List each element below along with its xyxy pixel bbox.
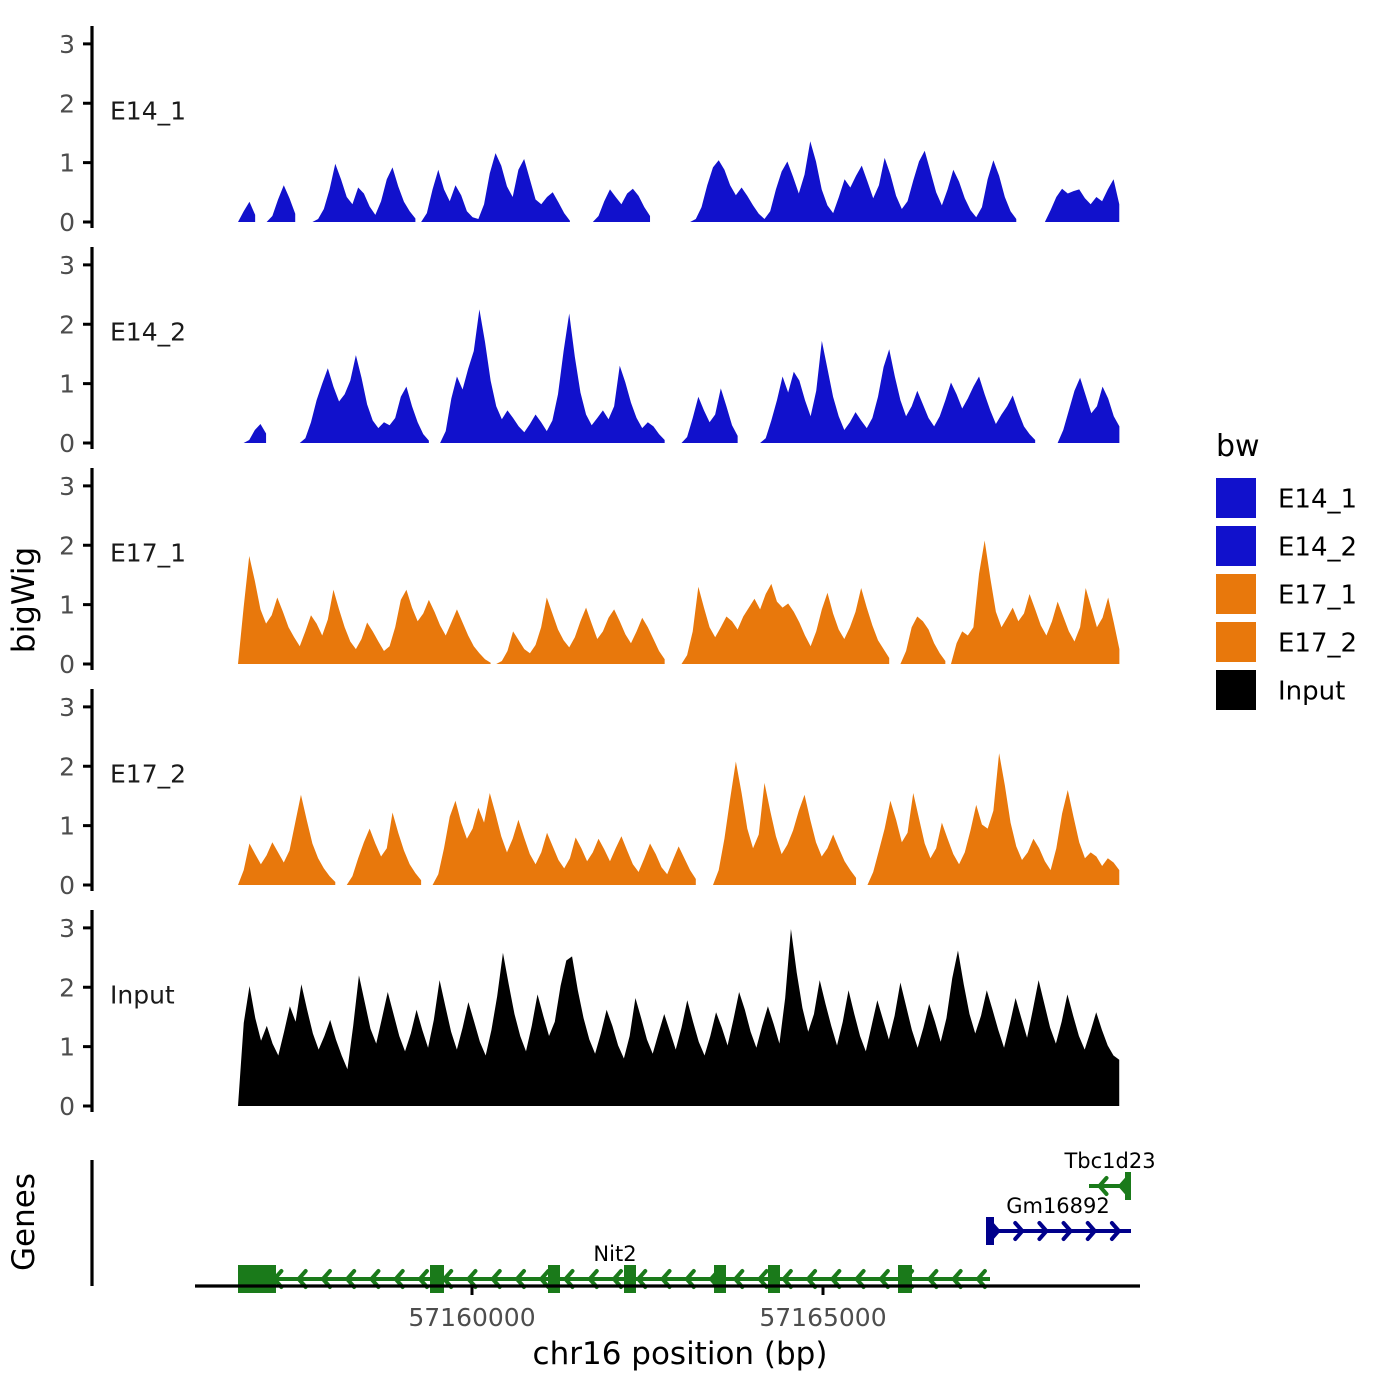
y-tick-label: 1 — [59, 812, 75, 841]
y-tick-label: 3 — [59, 914, 75, 943]
y-tick-label: 2 — [59, 531, 75, 560]
y-tick-label: 2 — [59, 89, 75, 118]
legend-swatch — [1216, 526, 1256, 566]
track-area-e17_1 — [951, 541, 1119, 665]
legend-item-e14_2[interactable]: E14_2 — [1216, 526, 1357, 566]
track-area-e17_2 — [347, 813, 421, 885]
track-panel-e14_1: 0123E14_1 — [59, 26, 1119, 237]
track-area-e17_2 — [238, 795, 335, 885]
track-area-e17_2 — [867, 753, 1119, 885]
legend-item-e17_2[interactable]: E17_2 — [1216, 622, 1357, 662]
track-area-e14_1 — [267, 185, 296, 222]
track-area-e14_2 — [440, 309, 665, 443]
gene-exon-block — [714, 1265, 726, 1293]
legend-label: E17_1 — [1278, 581, 1357, 611]
genome-browser-figure: 0123E14_10123E14_20123E17_10123E17_20123… — [0, 0, 1400, 1400]
y-tick-label: 1 — [59, 591, 75, 620]
track-panel-e17_2: 0123E17_2 — [59, 689, 1119, 900]
track-strip-label: E17_2 — [110, 759, 186, 788]
gene-exon-block — [1125, 1172, 1131, 1200]
track-strip-label: E17_1 — [110, 538, 186, 567]
bigwig-track-figure: 0123E14_10123E14_20123E17_10123E17_20123… — [0, 0, 1400, 1400]
track-area-e17_2 — [713, 762, 856, 886]
legend-label: E14_1 — [1278, 485, 1357, 515]
y-tick-label: 0 — [59, 208, 75, 237]
gene-exon-block — [898, 1265, 912, 1293]
genes-axis-title: Genes — [6, 1173, 42, 1271]
y-tick-label: 2 — [59, 973, 75, 1002]
track-area-e17_1 — [238, 556, 491, 664]
track-area-e14_2 — [760, 341, 1035, 443]
gene-feature-tbc1d23[interactable]: Tbc1d23 — [1063, 1149, 1155, 1200]
gene-label-nit2: Nit2 — [593, 1242, 636, 1266]
gene-exon-block — [986, 1217, 994, 1245]
legend-item-e14_1[interactable]: E14_1 — [1216, 478, 1357, 518]
y-tick-label: 0 — [59, 650, 75, 679]
track-panel-input: 0123Input — [59, 910, 1119, 1121]
x-tick-label: 57165000 — [759, 1303, 886, 1332]
x-tick-label: 57160000 — [408, 1303, 535, 1332]
track-strip-label: Input — [110, 980, 175, 1009]
track-area-e14_2 — [682, 388, 738, 443]
track-area-e14_1 — [312, 164, 415, 222]
y-tick-label: 2 — [59, 752, 75, 781]
track-area-e14_1 — [238, 202, 255, 222]
legend-swatch — [1216, 478, 1256, 518]
y-tick-label: 0 — [59, 1092, 75, 1121]
gene-exon-block — [238, 1265, 276, 1293]
track-panel-e17_1: 0123E17_1 — [59, 468, 1119, 679]
track-area-e17_1 — [496, 598, 664, 665]
y-tick-label: 0 — [59, 429, 75, 458]
gene-exon-block — [548, 1265, 560, 1293]
gene-exon-block — [624, 1265, 636, 1293]
gene-exon-block — [430, 1265, 444, 1293]
legend-item-e17_1[interactable]: E17_1 — [1216, 574, 1357, 614]
legend-label: E17_2 — [1278, 629, 1357, 659]
legend-item-input[interactable]: Input — [1216, 670, 1345, 710]
track-area-e14_1 — [690, 141, 1016, 222]
track-area-e14_1 — [421, 153, 570, 222]
y-tick-label: 3 — [59, 251, 75, 280]
y-tick-label: 2 — [59, 310, 75, 339]
legend-swatch — [1216, 670, 1256, 710]
x-axis: 5716000057165000 — [195, 1286, 1140, 1332]
y-tick-label: 3 — [59, 693, 75, 722]
track-area-e14_2 — [244, 424, 266, 443]
gene-exon-block — [768, 1265, 780, 1293]
y-tick-label: 1 — [59, 370, 75, 399]
y-axis-title: bigWig — [6, 547, 42, 653]
track-area-input — [238, 929, 1119, 1106]
y-tick-label: 3 — [59, 30, 75, 59]
track-area-e14_2 — [1058, 378, 1120, 443]
track-area-e17_2 — [433, 793, 696, 885]
track-area-e14_1 — [593, 189, 650, 222]
y-tick-label: 3 — [59, 472, 75, 501]
legend-label: Input — [1278, 677, 1345, 707]
legend-title: bw — [1216, 429, 1260, 464]
legend-swatch — [1216, 622, 1256, 662]
track-area-e17_1 — [900, 617, 945, 665]
y-tick-label: 1 — [59, 149, 75, 178]
gene-label-tbc1d23: Tbc1d23 — [1063, 1149, 1155, 1173]
x-axis-title: chr16 position (bp) — [533, 1336, 828, 1372]
gene-feature-gm16892[interactable]: Gm16892 — [986, 1194, 1131, 1245]
track-panel-e14_2: 0123E14_2 — [59, 247, 1119, 458]
legend-label: E14_2 — [1278, 533, 1357, 563]
gene-label-gm16892: Gm16892 — [1006, 1194, 1110, 1218]
track-area-e14_1 — [1045, 179, 1119, 222]
y-tick-label: 0 — [59, 871, 75, 900]
track-area-e17_1 — [682, 584, 890, 664]
y-tick-label: 1 — [59, 1033, 75, 1062]
track-area-e14_2 — [300, 355, 429, 443]
legend: bwE14_1E14_2E17_1E17_2Input — [1216, 429, 1357, 710]
track-strip-label: E14_2 — [110, 317, 186, 346]
track-strip-label: E14_1 — [110, 96, 186, 125]
legend-swatch — [1216, 574, 1256, 614]
